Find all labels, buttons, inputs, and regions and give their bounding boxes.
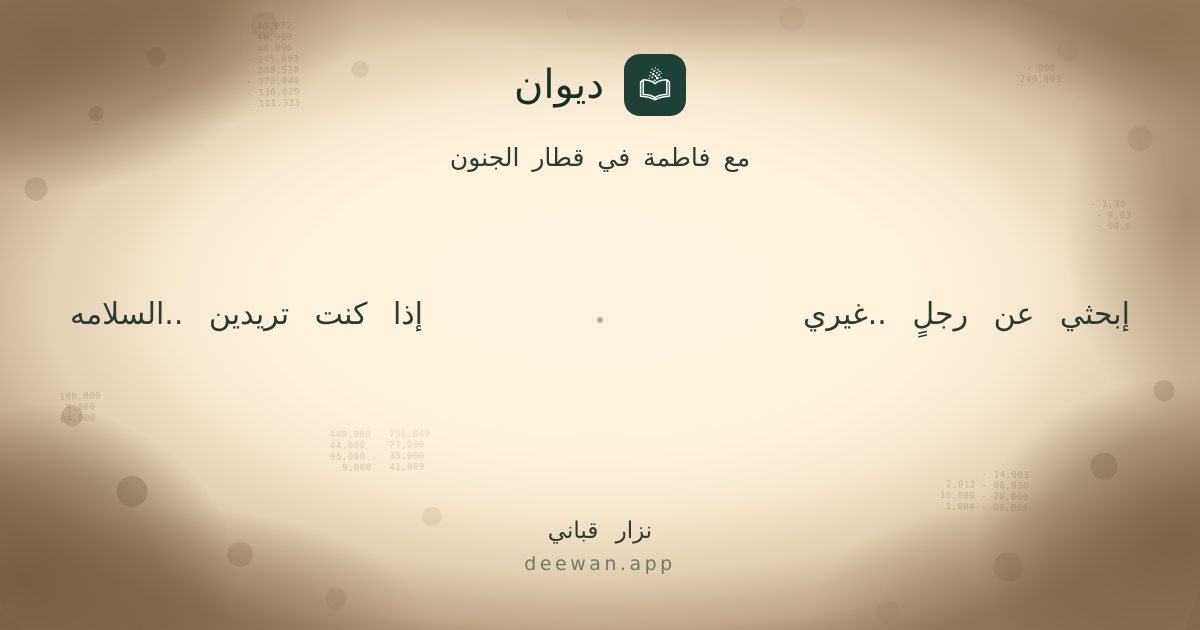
brand-header[interactable]: ديوان [514,54,686,116]
card-content: ديوان مع فاطمة في قطار الجنون إبحثي عن ر… [0,0,1200,630]
poet-name: نزار قباني [548,518,652,546]
open-book-with-sparkles-icon [635,65,675,105]
brand-name: ديوان [514,65,604,105]
deewan-logo-badge[interactable] [624,54,686,116]
card-footer: نزار قباني deewan.app [0,518,1200,576]
poem-title: مع فاطمة في قطار الجنون [450,142,750,175]
site-url[interactable]: deewan.app [524,553,675,576]
verse-hemistich-right: إبحثي عن رجلٍ ..غيري [603,293,1130,337]
verse-hemistich-left: إذا كنت تريدين ..السلامه [70,293,597,337]
poem-share-card: 40,072 - 49,900 - 44,096 - 145,003 - 880… [0,0,1200,630]
poem-verse: إبحثي عن رجلٍ ..غيري إذا كنت تريدين ..ال… [70,293,1130,337]
